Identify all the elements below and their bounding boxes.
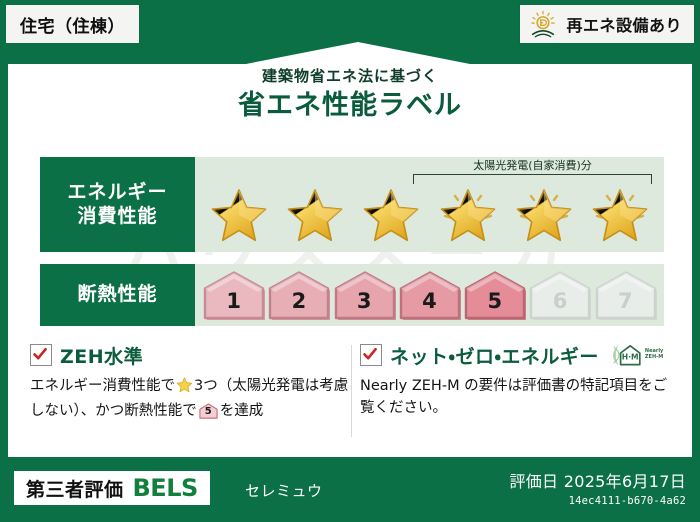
zeh-body-part1: エネルギー消費性能で [30, 378, 175, 394]
star-1 [206, 185, 272, 247]
solar-generation-bracket: 太陽光発電(自家消費)分 [409, 158, 656, 184]
evaluation-uid: 14ec4111-b670-4a62 [509, 495, 686, 507]
solar-generation-note: 太陽光発電(自家消費)分 [409, 157, 656, 173]
zeh-body-star-count: 3つ [194, 378, 218, 394]
energy-label-line2: 消費性能 [77, 205, 157, 229]
insulation-grade-number: 1 [226, 291, 241, 321]
zeh-standard-body: エネルギー消費性能で3つ（太陽光発電は考慮しない）、かつ断熱性能で5を達成 [30, 375, 360, 423]
insulation-performance-row: 断熱性能 1 2 3 [40, 264, 664, 326]
star-5 [511, 185, 577, 247]
inline-star-icon [176, 377, 193, 400]
inline-house-number: 5 [199, 407, 218, 417]
solar-sun-icon [528, 9, 558, 39]
energy-label-line1: エネルギー [67, 181, 167, 205]
energy-performance-stars-area: 太陽光発電(自家消費)分 [195, 157, 664, 252]
star-6 [587, 185, 653, 247]
zeh-body-part3: を達成 [220, 403, 264, 419]
insulation-grade-list: 1 2 3 4 5 [201, 267, 658, 323]
page-title: 建築物省エネ法に基づく 省エネ性能ラベル [8, 68, 692, 120]
insulation-grade-number: 5 [487, 291, 502, 321]
insulation-grade-number: 6 [553, 291, 568, 321]
evaluation-info: 評価日 2025年6月17日 14ec4111-b670-4a62 [509, 468, 686, 507]
statements-divider [351, 345, 352, 437]
vendor-name: セレミュウ [245, 480, 323, 501]
evaluation-date: 評価日 2025年6月17日 [509, 468, 686, 492]
zeh-m-logo-tiny-line2: ZEH-M [645, 355, 663, 361]
insulation-performance-label-box: 断熱性能 [40, 264, 195, 326]
insulation-label-line1: 断熱性能 [77, 283, 157, 307]
star-rating [195, 183, 664, 248]
energy-performance-label: 住宅（住棟） 再エネ設備あり [0, 0, 700, 522]
page-main-title: 省エネ性能ラベル [8, 91, 692, 121]
page-subtitle: 建築物省エネ法に基づく [8, 68, 692, 85]
star-2 [282, 185, 348, 247]
building-type-label: 住宅（住棟） [20, 12, 125, 37]
energy-performance-label-box: エネルギー 消費性能 [40, 157, 195, 252]
bels-badge: 第三者評価 BELS [14, 471, 210, 505]
net-zero-energy-statement: ネット・ゼロ・エネルギー H·M Nearly ZEH-M [360, 342, 670, 442]
zeh-standard-checkbox [30, 344, 52, 366]
insulation-grade-3: 3 [332, 269, 397, 321]
net-zero-energy-title: ネット・ゼロ・エネルギー [390, 342, 599, 369]
insulation-grade-number: 3 [357, 291, 372, 321]
insulation-grade-4: 4 [397, 269, 462, 321]
footer: 第三者評価 BELS セレミュウ 評価日 2025年6月17日 14ec4111… [0, 462, 700, 522]
star-4 [435, 185, 501, 247]
insulation-grades-area: 1 2 3 4 5 [195, 264, 664, 326]
insulation-grade-1: 1 [201, 269, 266, 321]
insulation-grade-6: 6 [527, 269, 592, 321]
insulation-grade-5: 5 [462, 269, 527, 321]
insulation-grade-number: 4 [422, 291, 437, 321]
zeh-standard-title: ZEH水準 [60, 342, 143, 369]
insulation-grade-2: 2 [266, 269, 331, 321]
insulation-grade-number: 2 [292, 291, 307, 321]
zeh-standard-statement: ZEH水準 エネルギー消費性能で3つ（太陽光発電は考慮しない）、かつ断熱性能で5… [30, 342, 360, 442]
bels-label: BELS [133, 474, 198, 502]
third-party-label: 第三者評価 [26, 475, 124, 502]
energy-performance-row: エネルギー 消費性能 太陽光発電(自家消費)分 [40, 157, 664, 252]
zeh-m-logo: H·M Nearly ZEH-M [611, 342, 663, 368]
net-zero-energy-body: Nearly ZEH-M の要件は評価書の特記項目をご覧ください。 [360, 375, 670, 420]
renewable-equipment-badge: 再エネ設備あり [520, 5, 694, 43]
insulation-grade-7: 7 [593, 269, 658, 321]
inline-house-icon: 5 [199, 403, 218, 419]
svg-text:H·M: H·M [622, 352, 639, 361]
statements-area: ZEH水準 エネルギー消費性能で3つ（太陽光発電は考慮しない）、かつ断熱性能で5… [30, 342, 670, 442]
insulation-grade-number: 7 [618, 291, 633, 321]
star-3 [358, 185, 424, 247]
renewable-equipment-label: 再エネ設備あり [566, 12, 682, 36]
label-panel: ハウスメーカ 建築物省エネ法に基づく 省エネ性能ラベル エネルギー 消費性能 太… [8, 42, 692, 457]
building-type-badge: 住宅（住棟） [6, 5, 139, 43]
net-zero-energy-checkbox [360, 344, 382, 366]
